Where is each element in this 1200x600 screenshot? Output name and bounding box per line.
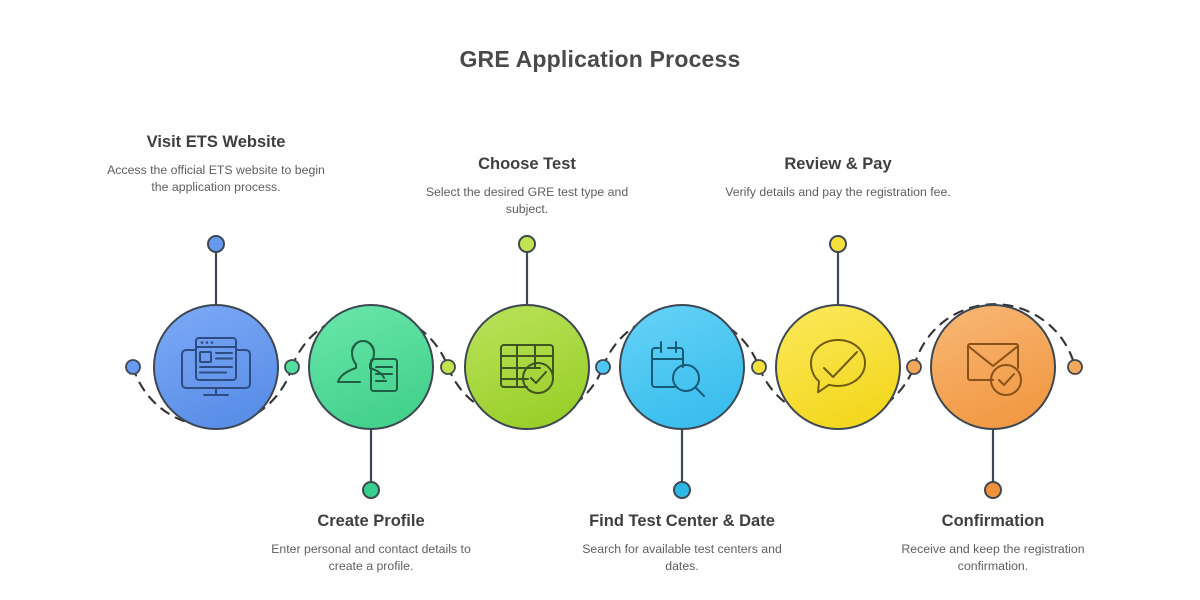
- step-label-2: Create Profile Enter personal and contac…: [256, 512, 486, 575]
- step-title-5: Review & Pay: [723, 155, 953, 174]
- end-dot-1: [208, 236, 224, 252]
- end-dot-4: [674, 482, 690, 498]
- diagram-graphics: [0, 0, 1200, 600]
- step-circle-5[interactable]: [776, 305, 900, 429]
- side-dot-4: [596, 360, 610, 374]
- side-dot-2: [285, 360, 299, 374]
- calendar-search-icon: [652, 342, 704, 396]
- step-description-3: Select the desired GRE test type and sub…: [412, 184, 642, 218]
- step-title-3: Choose Test: [412, 155, 642, 174]
- step-circle-1[interactable]: [154, 305, 278, 429]
- step-description-4: Search for available test centers and da…: [567, 541, 797, 575]
- page-title: GRE Application Process: [0, 46, 1200, 73]
- end-dot-5: [830, 236, 846, 252]
- step-description-6: Receive and keep the registration confir…: [878, 541, 1108, 575]
- step-title-4: Find Test Center & Date: [567, 512, 797, 531]
- end-dot-3: [519, 236, 535, 252]
- step-description-2: Enter personal and contact details to cr…: [256, 541, 486, 575]
- end-dot-6: [985, 482, 1001, 498]
- side-dot-1: [126, 360, 140, 374]
- step-title-1: Visit ETS Website: [101, 133, 331, 152]
- step-circle-4[interactable]: [620, 305, 744, 429]
- step-title-6: Confirmation: [878, 512, 1108, 531]
- envelope-check-icon: [968, 344, 1021, 395]
- step-circle-2[interactable]: [309, 305, 433, 429]
- step-circle-3[interactable]: [465, 305, 589, 429]
- step-label-5: Review & Pay Verify details and pay the …: [723, 155, 953, 201]
- step-label-6: Confirmation Receive and keep the regist…: [878, 512, 1108, 575]
- step-description-5: Verify details and pay the registration …: [723, 184, 953, 201]
- chat-check-icon: [811, 340, 865, 392]
- dashed-connector-arcs: [133, 304, 1075, 426]
- user-document-icon: [338, 341, 397, 391]
- step-description-1: Access the official ETS website to begin…: [101, 162, 331, 196]
- side-dot-6: [907, 360, 921, 374]
- side-dot-5: [752, 360, 766, 374]
- step-circle-6[interactable]: [931, 305, 1055, 429]
- step-label-1: Visit ETS Website Access the official ET…: [101, 133, 331, 196]
- step-label-3: Choose Test Select the desired GRE test …: [412, 155, 642, 218]
- browser-monitor-icon: [182, 338, 250, 395]
- table-check-icon: [501, 345, 553, 393]
- stem-lines: [216, 250, 993, 484]
- side-dot-3: [441, 360, 455, 374]
- step-title-2: Create Profile: [256, 512, 486, 531]
- side-dot-7: [1068, 360, 1082, 374]
- step-label-4: Find Test Center & Date Search for avail…: [567, 512, 797, 575]
- end-dot-2: [363, 482, 379, 498]
- infographic-canvas: GRE Application Process: [0, 0, 1200, 600]
